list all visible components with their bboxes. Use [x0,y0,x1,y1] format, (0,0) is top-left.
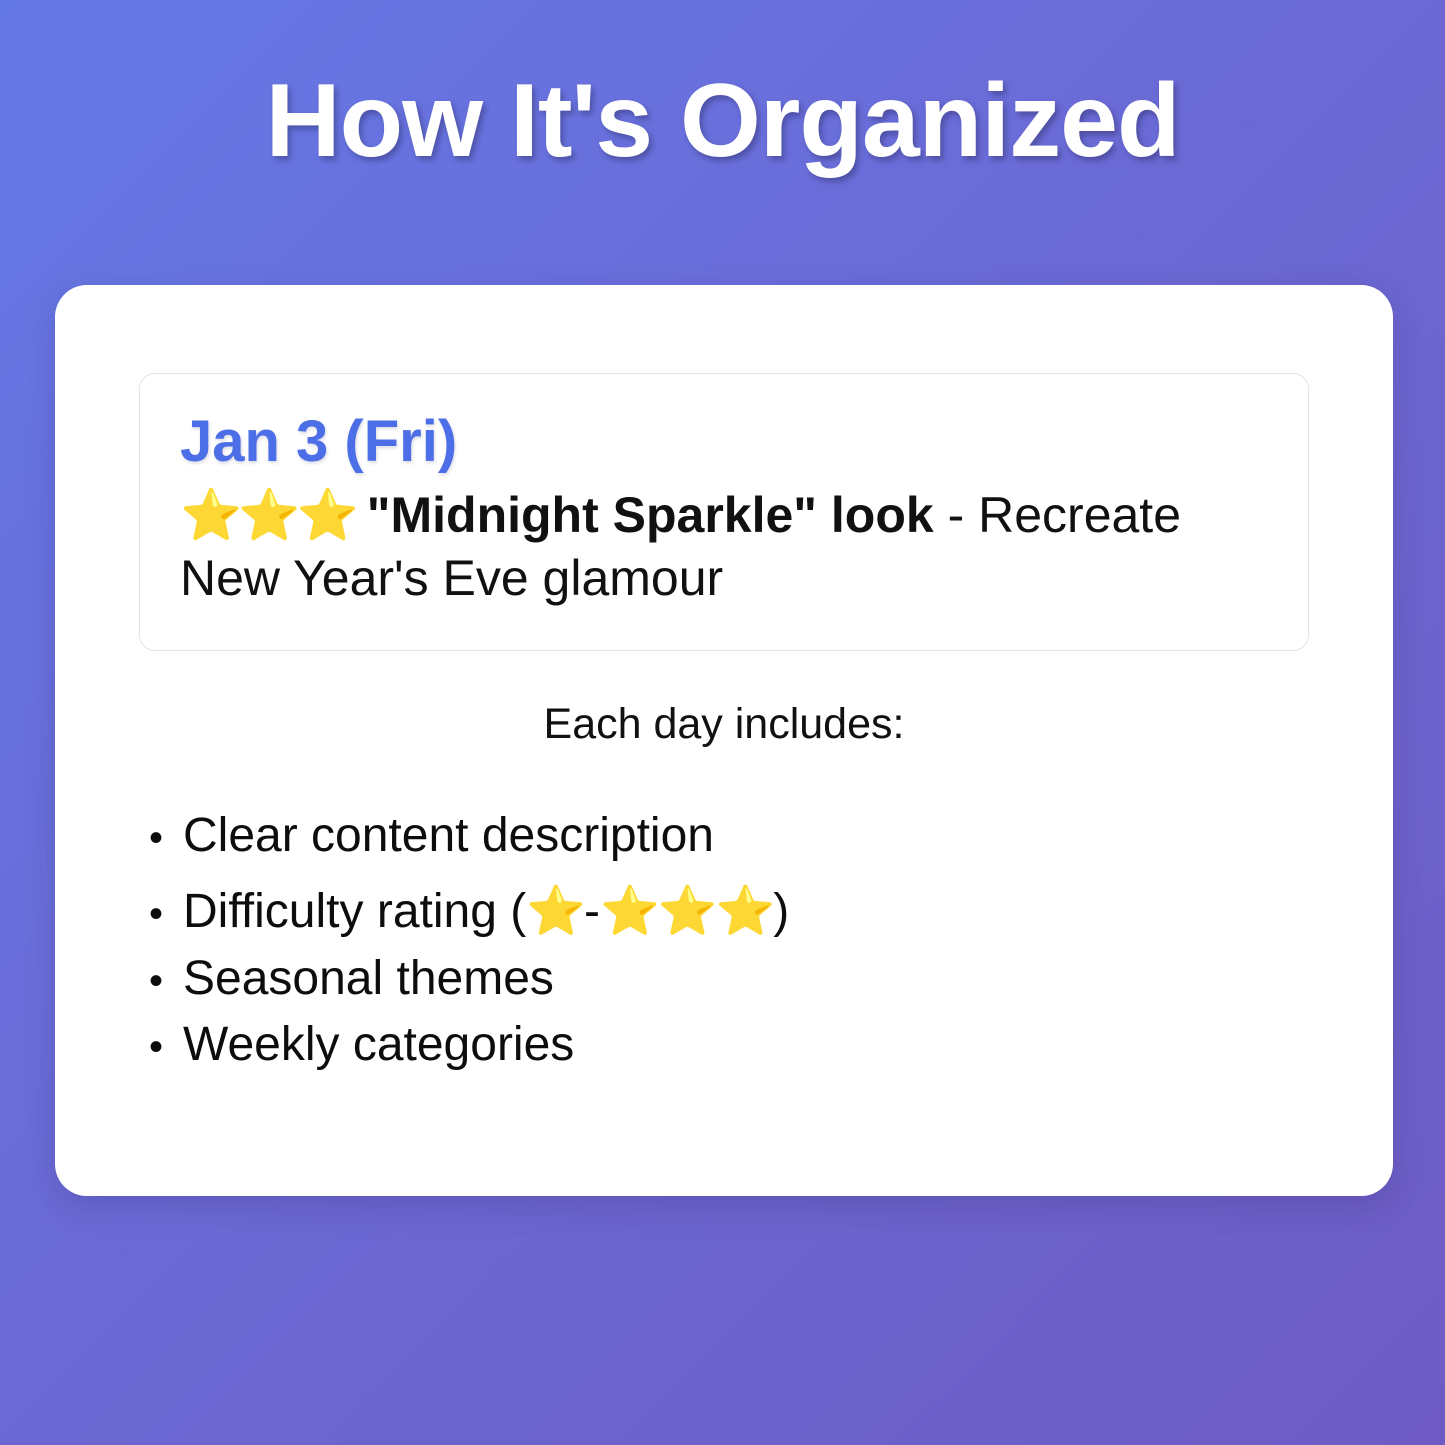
bullet-icon: • [149,1020,183,1075]
day-date-label: Jan 3 (Fri) [180,408,1268,476]
day-title-text: "Midnight Sparkle" look [367,487,934,543]
difficulty-stars-icon: ⭐⭐⭐ [180,487,355,543]
bullet-icon: • [149,811,183,866]
range-separator: - [584,885,600,938]
day-entry-box: Jan 3 (Fri) ⭐⭐⭐"Midnight Sparkle" look -… [139,373,1309,651]
star-max-icon: ⭐⭐⭐ [600,885,773,938]
includes-heading: Each day includes: [139,699,1309,751]
list-item: • Weekly categories [149,1012,1309,1078]
difficulty-rating-prefix: Difficulty rating ( [183,885,526,938]
list-item-label: Weekly categories [183,1012,574,1078]
content-card: Jan 3 (Fri) ⭐⭐⭐"Midnight Sparkle" look -… [55,285,1393,1196]
includes-list: • Clear content description • Difficulty… [139,803,1309,1078]
difficulty-rating-suffix: ) [773,885,789,938]
bullet-icon: • [149,887,183,942]
list-item-label: Clear content description [183,803,714,869]
list-item-label: Difficulty rating (⭐-⭐⭐⭐) [183,879,789,945]
list-item: • Clear content description [149,803,1309,869]
star-min-icon: ⭐ [526,885,584,938]
list-item: • Seasonal themes [149,946,1309,1012]
list-item: • Difficulty rating (⭐-⭐⭐⭐) [149,879,1309,945]
bullet-icon: • [149,954,183,1009]
day-description: ⭐⭐⭐"Midnight Sparkle" look - Recreate Ne… [180,484,1268,610]
page-title: How It's Organized [0,64,1445,178]
list-item-label: Seasonal themes [183,946,554,1012]
